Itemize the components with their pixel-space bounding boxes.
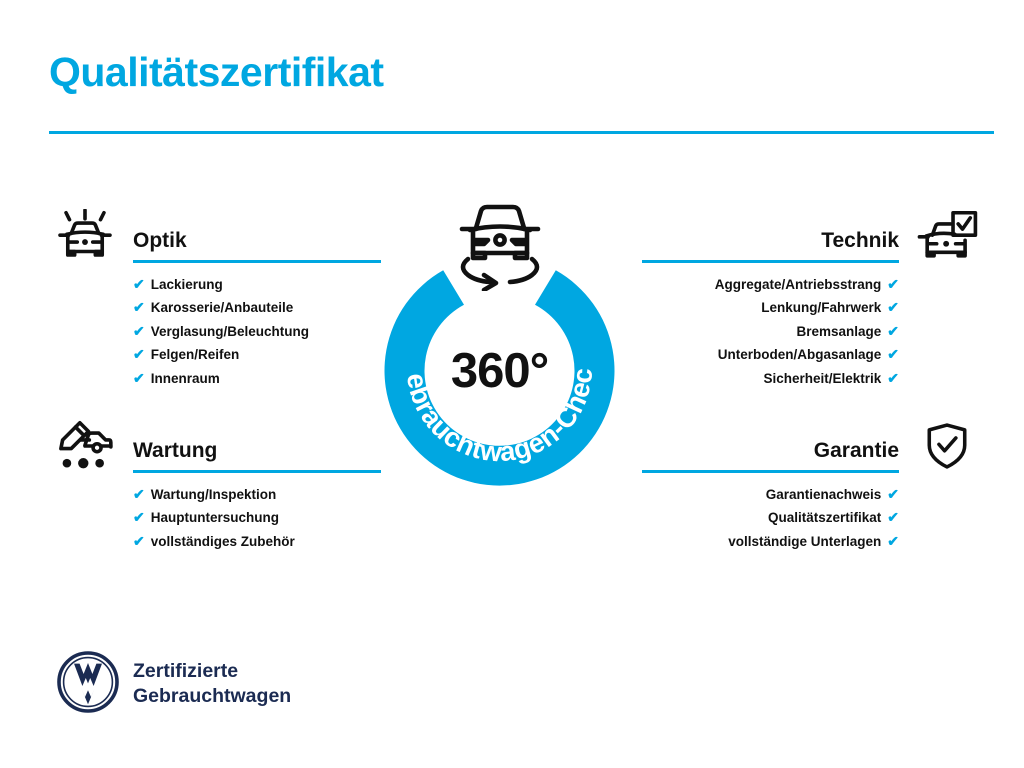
footer-brand-line2: Gebrauchtwagen — [133, 684, 291, 709]
list-item-label: Lackierung — [151, 273, 223, 296]
list-item-label: Karosserie/Anbauteile — [151, 296, 294, 319]
list-item: vollständige Unterlagen✔ — [638, 530, 899, 553]
section-garantie: Garantie Garantienachweis✔ Qualitätszert… — [638, 415, 983, 553]
check-icon: ✔ — [887, 371, 899, 385]
list-item-label: Bremsanlage — [796, 320, 881, 343]
check-icon: ✔ — [133, 487, 145, 501]
list-item: Unterboden/Abgasanlage✔ — [638, 343, 899, 366]
check-icon: ✔ — [887, 277, 899, 291]
list-item: ✔Lackierung — [133, 273, 389, 296]
section-wartung-list: ✔Wartung/Inspektion ✔Hauptuntersuchung ✔… — [133, 483, 389, 553]
list-item-label: Verglasung/Beleuchtung — [151, 320, 309, 343]
list-item: ✔Felgen/Reifen — [133, 343, 389, 366]
section-technik-list: Aggregate/Antriebsstrang✔ Lenkung/Fahrwe… — [638, 273, 899, 390]
check-icon: ✔ — [887, 300, 899, 314]
list-item: Aggregate/Antriebsstrang✔ — [638, 273, 899, 296]
section-technik: Technik Aggregate/Antriebsstrang✔ Lenkun… — [638, 205, 983, 390]
section-garantie-list: Garantienachweis✔ Qualitätszertifikat✔ v… — [638, 483, 899, 553]
list-item-label: Felgen/Reifen — [151, 343, 240, 366]
list-item-label: Innenraum — [151, 367, 220, 390]
section-optik-list: ✔Lackierung ✔Karosserie/Anbauteile ✔Verg… — [133, 273, 389, 390]
section-wartung-header: Wartung — [49, 415, 389, 483]
section-wartung-title: Wartung — [133, 439, 217, 463]
list-item: ✔Wartung/Inspektion — [133, 483, 389, 506]
section-technik-header: Technik — [638, 205, 983, 273]
list-item-label: Qualitätszertifikat — [768, 506, 881, 529]
check-icon: ✔ — [887, 510, 899, 524]
list-item-label: Aggregate/Antriebsstrang — [715, 273, 882, 296]
list-item-label: Garantienachweis — [766, 483, 882, 506]
list-item: ✔vollständiges Zubehör — [133, 530, 389, 553]
check-icon: ✔ — [887, 487, 899, 501]
check-icon: ✔ — [133, 300, 145, 314]
list-item: ✔Innenraum — [133, 367, 389, 390]
shield-check-icon — [911, 415, 983, 477]
list-item-label: Wartung/Inspektion — [151, 483, 277, 506]
check-icon: ✔ — [133, 347, 145, 361]
check-icon: ✔ — [133, 534, 145, 548]
check-icon: ✔ — [133, 510, 145, 524]
badge-360-gebrauchtwagen-check: Gebrauchtwagen-Check 360° — [378, 247, 621, 490]
section-optik-underline — [133, 260, 381, 263]
volkswagen-logo — [56, 650, 120, 714]
footer-brand-line1: Zertifizierte — [133, 659, 291, 684]
list-item: ✔Karosserie/Anbauteile — [133, 296, 389, 319]
list-item: Garantienachweis✔ — [638, 483, 899, 506]
list-item: ✔Hauptuntersuchung — [133, 506, 389, 529]
car-shine-icon — [49, 205, 121, 267]
list-item-label: Hauptuntersuchung — [151, 506, 279, 529]
section-optik-header: Optik — [49, 205, 389, 273]
check-icon: ✔ — [133, 324, 145, 338]
page-title: Qualitätszertifikat — [49, 50, 384, 95]
check-icon: ✔ — [887, 347, 899, 361]
badge-center-label: 360° — [378, 343, 621, 399]
title-divider — [49, 131, 994, 134]
list-item-label: Unterboden/Abgasanlage — [718, 343, 882, 366]
pencil-car-dots-icon — [49, 415, 121, 477]
check-icon: ✔ — [133, 277, 145, 291]
section-wartung-underline — [133, 470, 381, 473]
section-technik-underline — [642, 260, 899, 263]
check-icon: ✔ — [133, 371, 145, 385]
list-item: Lenkung/Fahrwerk✔ — [638, 296, 899, 319]
car-rotate-icon — [446, 195, 554, 291]
car-checkbox-icon — [911, 205, 983, 267]
section-garantie-underline — [642, 470, 899, 473]
footer-brand-text: Zertifizierte Gebrauchtwagen — [133, 659, 291, 709]
section-optik-title: Optik — [133, 229, 187, 253]
list-item: ✔Verglasung/Beleuchtung — [133, 320, 389, 343]
list-item-label: Lenkung/Fahrwerk — [761, 296, 881, 319]
section-wartung: Wartung ✔Wartung/Inspektion ✔Hauptunters… — [49, 415, 389, 553]
list-item-label: vollständiges Zubehör — [151, 530, 295, 553]
check-icon: ✔ — [887, 324, 899, 338]
list-item: Bremsanlage✔ — [638, 320, 899, 343]
check-icon: ✔ — [887, 534, 899, 548]
list-item: Qualitätszertifikat✔ — [638, 506, 899, 529]
section-garantie-title: Garantie — [814, 439, 899, 463]
list-item-label: vollständige Unterlagen — [728, 530, 881, 553]
section-optik: Optik ✔Lackierung ✔Karosserie/Anbauteile… — [49, 205, 389, 390]
list-item: Sicherheit/Elektrik✔ — [638, 367, 899, 390]
section-garantie-header: Garantie — [638, 415, 983, 483]
list-item-label: Sicherheit/Elektrik — [763, 367, 881, 390]
section-technik-title: Technik — [821, 229, 899, 253]
